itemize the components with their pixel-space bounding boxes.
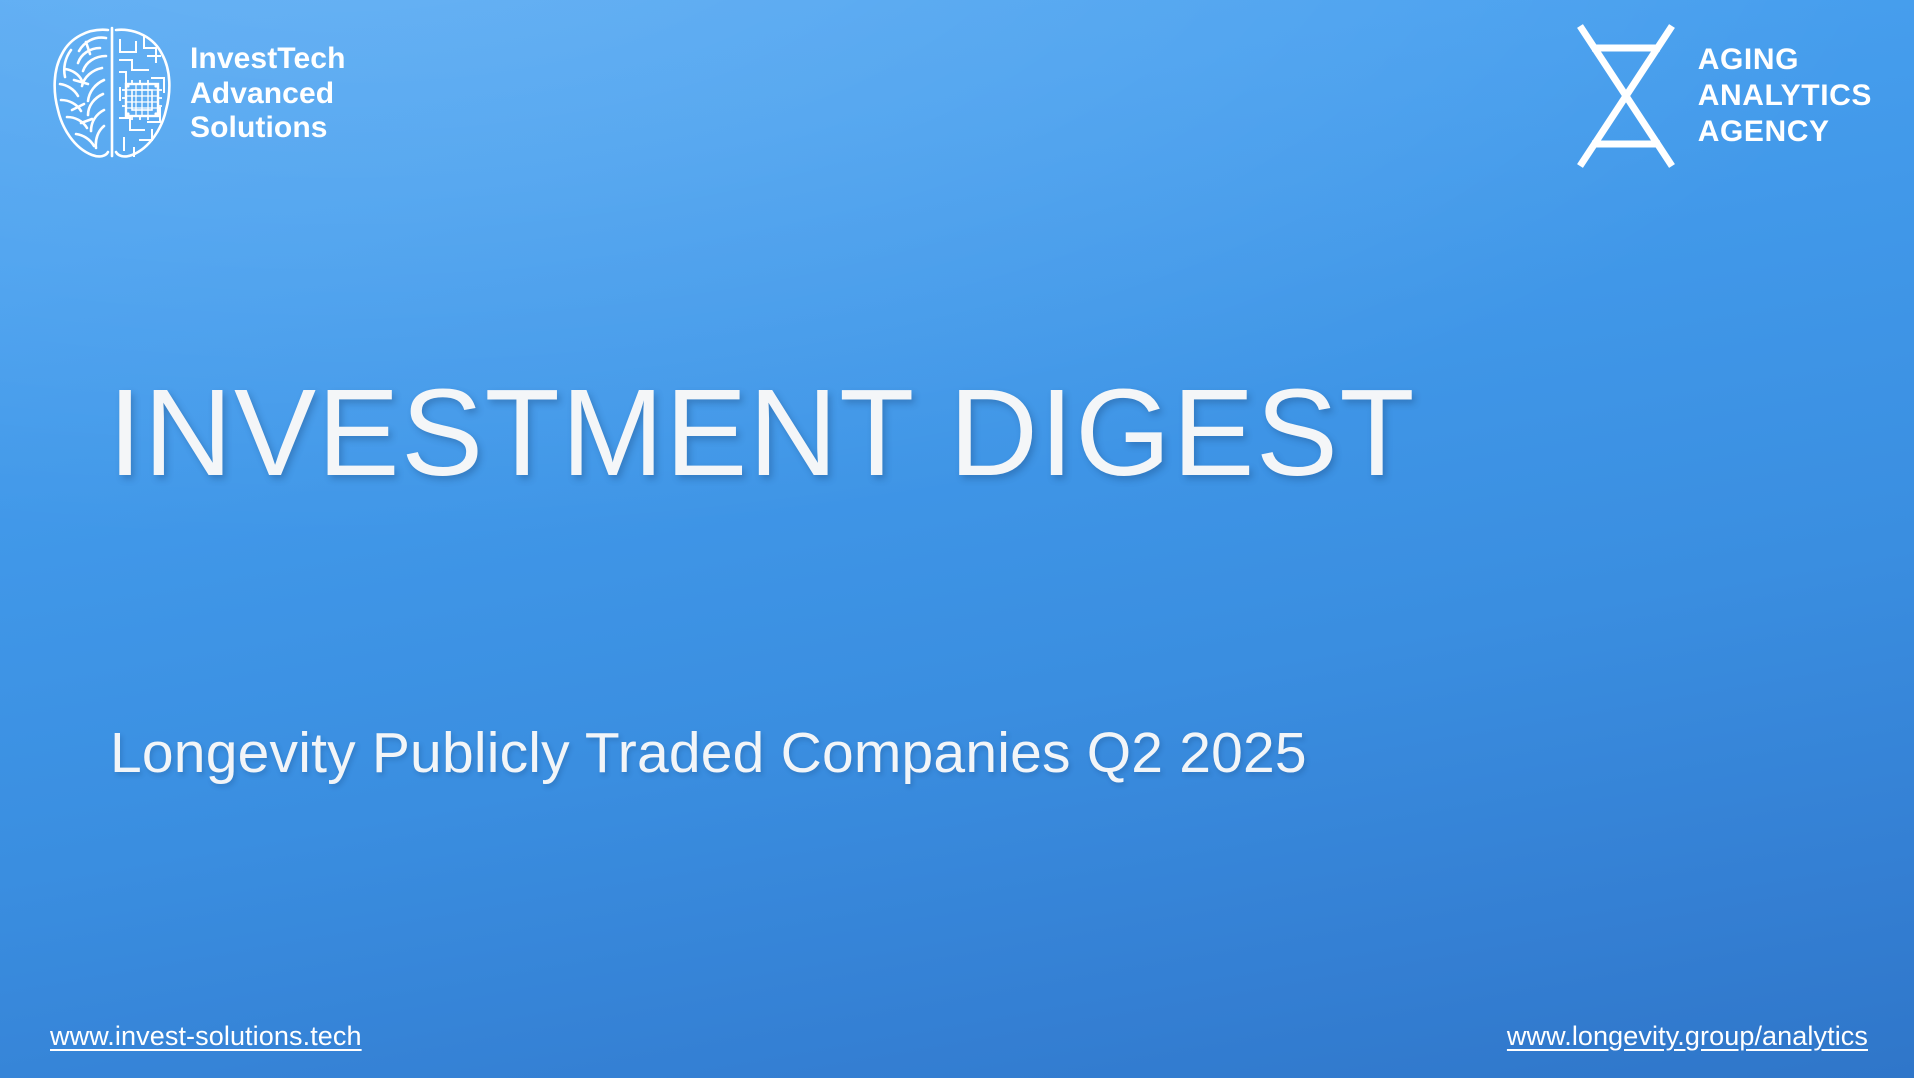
footer-link-invest-solutions[interactable]: www.invest-solutions.tech — [50, 1021, 362, 1052]
page-title: INVESTMENT DIGEST — [108, 372, 1416, 495]
investtech-line-1: InvestTech — [190, 42, 346, 77]
investtech-brand-text: InvestTech Advanced Solutions — [190, 38, 346, 146]
brain-circuit-icon — [48, 22, 176, 162]
page-subtitle: Longevity Publicly Traded Companies Q2 2… — [110, 725, 1307, 782]
aging-analytics-line-3: AGENCY — [1698, 114, 1872, 150]
investtech-brand-lockup: InvestTech Advanced Solutions — [48, 22, 346, 162]
aging-analytics-brand-lockup: AGING ANALYTICS AGENCY — [1572, 20, 1872, 172]
aging-analytics-brand-text: AGING ANALYTICS AGENCY — [1698, 42, 1872, 150]
title-slide: InvestTech Advanced Solutions AGING ANAL… — [0, 0, 1914, 1078]
investtech-line-2: Advanced — [190, 77, 346, 112]
footer-link-longevity-analytics[interactable]: www.longevity.group/analytics — [1507, 1021, 1868, 1052]
aging-analytics-line-1: AGING — [1698, 42, 1872, 78]
hourglass-icon — [1572, 20, 1680, 172]
aging-analytics-line-2: ANALYTICS — [1698, 78, 1872, 114]
investtech-line-3: Solutions — [190, 111, 346, 146]
